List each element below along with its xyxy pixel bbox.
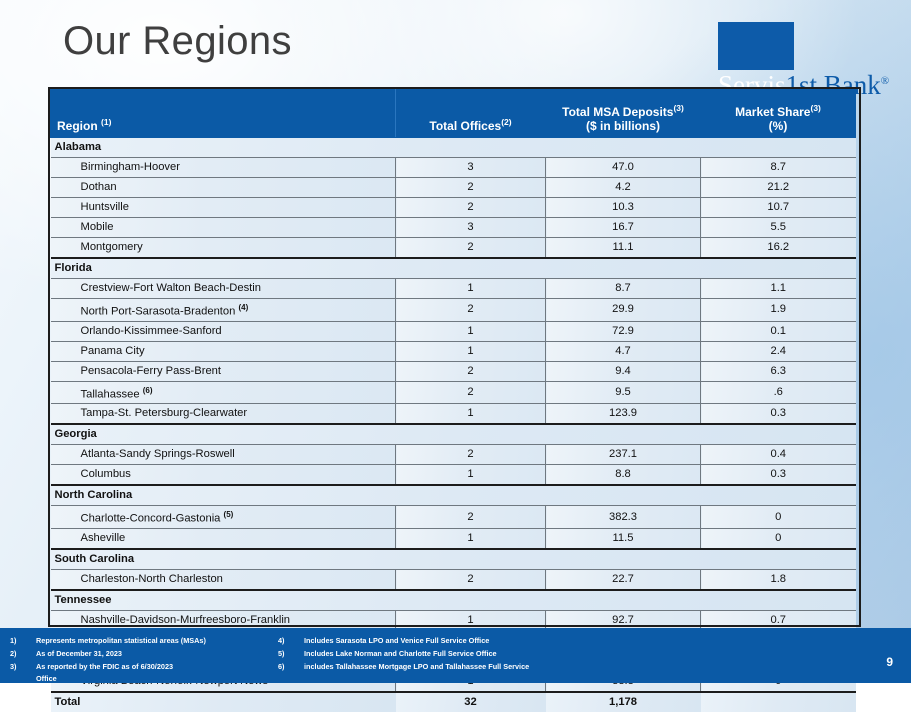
footnote-number: 6) — [278, 661, 304, 674]
footnotes-right-column: 4)Includes Sarasota LPO and Venice Full … — [278, 635, 608, 673]
table-row: Pensacola-Ferry Pass-Brent29.46.3 — [51, 361, 856, 381]
table-row: Huntsville210.310.7 — [51, 198, 856, 218]
msa-total-offices: 2 — [396, 445, 546, 465]
state-header-row: Alabama — [51, 138, 856, 158]
state-header-row: South Carolina — [51, 549, 856, 570]
msa-market-share: 21.2 — [701, 178, 856, 198]
footnotes-bar: 1)Represents metropolitan statistical ar… — [0, 628, 911, 683]
msa-name: Asheville — [51, 529, 396, 550]
footnote-item: 5)Includes Lake Norman and Charlotte Ful… — [278, 648, 608, 661]
regions-table-wrapper: Region (1) Total Offices(2) Total MSA De… — [50, 89, 855, 712]
header-row: Region (1) Total Offices(2) Total MSA De… — [51, 90, 856, 138]
registered-mark-icon: ® — [881, 75, 889, 87]
msa-total-deposits: 11.1 — [546, 238, 701, 259]
table-row: Orlando-Kissimmee-Sanford172.90.1 — [51, 321, 856, 341]
msa-total-deposits: 382.3 — [546, 506, 701, 529]
msa-market-share: 16.2 — [701, 238, 856, 259]
msa-name: Charleston-North Charleston — [51, 570, 396, 591]
total-label: Total — [51, 692, 396, 712]
msa-market-share: 0 — [701, 506, 856, 529]
state-header-row: North Carolina — [51, 485, 856, 506]
column-header-msa-deposits: Total MSA Deposits(3)($ in billions) — [546, 90, 701, 138]
msa-name: North Port-Sarasota-Bradenton (4) — [51, 299, 396, 322]
total-offices: 32 — [396, 692, 546, 712]
msa-total-deposits: 47.0 — [546, 158, 701, 178]
state-header-row: Georgia — [51, 424, 856, 445]
total-row: Total321,178 — [51, 692, 856, 712]
msa-name: Crestview-Fort Walton Beach-Destin — [51, 279, 396, 299]
msa-market-share: 0.3 — [701, 404, 856, 425]
state-header-row: Tennessee — [51, 590, 856, 611]
msa-total-deposits: 9.4 — [546, 361, 701, 381]
msa-market-share: 6.3 — [701, 361, 856, 381]
total-market-share — [701, 692, 856, 712]
state-name: Tennessee — [51, 590, 856, 611]
msa-market-share: 1.1 — [701, 279, 856, 299]
table-row: Montgomery211.116.2 — [51, 238, 856, 259]
footnote-text: includes Tallahassee Mortgage LPO and Ta… — [304, 661, 608, 674]
msa-market-share: 1.8 — [701, 570, 856, 591]
msa-total-offices: 2 — [396, 570, 546, 591]
regions-table: Region (1) Total Offices(2) Total MSA De… — [50, 89, 856, 712]
msa-total-deposits: 8.7 — [546, 279, 701, 299]
table-row: Crestview-Fort Walton Beach-Destin18.71.… — [51, 279, 856, 299]
table-row: Tampa-St. Petersburg-Clearwater1123.90.3 — [51, 404, 856, 425]
msa-name: Tampa-St. Petersburg-Clearwater — [51, 404, 396, 425]
footnote-number: 3) — [10, 661, 36, 674]
footnote-number: 4) — [278, 635, 304, 648]
msa-name: Mobile — [51, 218, 396, 238]
state-name: Georgia — [51, 424, 856, 445]
msa-name: Huntsville — [51, 198, 396, 218]
msa-market-share: 2.4 — [701, 341, 856, 361]
msa-name: Charlotte-Concord-Gastonia (5) — [51, 506, 396, 529]
msa-market-share: 8.7 — [701, 158, 856, 178]
table-row: North Port-Sarasota-Bradenton (4)229.91.… — [51, 299, 856, 322]
footnotes-left-column: 1)Represents metropolitan statistical ar… — [10, 635, 270, 686]
footnote-ref: (6) — [143, 386, 153, 395]
msa-name: Panama City — [51, 341, 396, 361]
state-name: Florida — [51, 258, 856, 279]
msa-market-share: .6 — [701, 381, 856, 404]
msa-market-share: 0.3 — [701, 465, 856, 486]
table-row: Birmingham-Hoover347.08.7 — [51, 158, 856, 178]
msa-total-deposits: 16.7 — [546, 218, 701, 238]
msa-total-offices: 1 — [396, 279, 546, 299]
footnote-number: 1) — [10, 635, 36, 648]
page-title: Our Regions — [63, 18, 292, 64]
msa-name: Columbus — [51, 465, 396, 486]
table-row: Charlotte-Concord-Gastonia (5)2382.30 — [51, 506, 856, 529]
msa-total-deposits: 11.5 — [546, 529, 701, 550]
msa-total-deposits: 4.7 — [546, 341, 701, 361]
msa-total-offices: 3 — [396, 218, 546, 238]
footnote-item: 1)Represents metropolitan statistical ar… — [10, 635, 270, 648]
msa-total-deposits: 237.1 — [546, 445, 701, 465]
footnote-item: 6)includes Tallahassee Mortgage LPO and … — [278, 661, 608, 674]
state-name: Alabama — [51, 138, 856, 158]
msa-total-offices: 1 — [396, 465, 546, 486]
msa-total-deposits: 72.9 — [546, 321, 701, 341]
msa-total-deposits: 22.7 — [546, 570, 701, 591]
msa-total-deposits: 8.8 — [546, 465, 701, 486]
msa-market-share: 0 — [701, 529, 856, 550]
msa-total-offices: 2 — [396, 238, 546, 259]
msa-name: Atlanta-Sandy Springs-Roswell — [51, 445, 396, 465]
msa-market-share: 0.4 — [701, 445, 856, 465]
page-number: 9 — [886, 655, 893, 669]
msa-total-offices: 2 — [396, 299, 546, 322]
msa-name: Montgomery — [51, 238, 396, 259]
table-row: Columbus18.80.3 — [51, 465, 856, 486]
msa-total-deposits: 10.3 — [546, 198, 701, 218]
msa-name: Pensacola-Ferry Pass-Brent — [51, 361, 396, 381]
msa-name: Birmingham-Hoover — [51, 158, 396, 178]
table-row: Atlanta-Sandy Springs-Roswell2237.10.4 — [51, 445, 856, 465]
table-row: Tallahassee (6)29.5.6 — [51, 381, 856, 404]
msa-total-offices: 1 — [396, 529, 546, 550]
footnote-number: 5) — [278, 648, 304, 661]
msa-total-deposits: 4.2 — [546, 178, 701, 198]
msa-total-offices: 2 — [396, 361, 546, 381]
msa-market-share: 10.7 — [701, 198, 856, 218]
servisfirst-bank-logo: Servis1st Bank® — [718, 22, 893, 88]
footnote-text: Includes Lake Norman and Charlotte Full … — [304, 648, 608, 661]
footnote-text: Represents metropolitan statistical area… — [36, 635, 270, 648]
msa-name: Orlando-Kissimmee-Sanford — [51, 321, 396, 341]
msa-total-offices: 2 — [396, 506, 546, 529]
table-row: Asheville111.50 — [51, 529, 856, 550]
table-body: AlabamaBirmingham-Hoover347.08.7Dothan24… — [51, 138, 856, 712]
table-row: Mobile316.75.5 — [51, 218, 856, 238]
footnote-ref-1: (1) — [101, 117, 111, 127]
msa-total-deposits: 9.5 — [546, 381, 701, 404]
table-row: Panama City14.72.4 — [51, 341, 856, 361]
state-name: South Carolina — [51, 549, 856, 570]
msa-name: Tallahassee (6) — [51, 381, 396, 404]
msa-market-share: 1.9 — [701, 299, 856, 322]
footnote-number: 2) — [10, 648, 36, 661]
table-row: Dothan24.221.2 — [51, 178, 856, 198]
table-row: Charleston-North Charleston222.71.8 — [51, 570, 856, 591]
logo-square — [718, 22, 794, 70]
total-deposits: 1,178 — [546, 692, 701, 712]
msa-market-share: 0.1 — [701, 321, 856, 341]
column-header-market-share: Market Share(3)(%) — [701, 90, 856, 138]
footnote-ref: (4) — [238, 303, 248, 312]
footnote-ref-3b: (3) — [810, 103, 820, 113]
msa-name: Dothan — [51, 178, 396, 198]
msa-total-offices: 1 — [396, 404, 546, 425]
footnote-item: 4)Includes Sarasota LPO and Venice Full … — [278, 635, 608, 648]
msa-total-deposits: 29.9 — [546, 299, 701, 322]
footnote-ref-3a: (3) — [673, 103, 683, 113]
footnote-item: 3)As reported by the FDIC as of 6/30/202… — [10, 661, 270, 674]
msa-market-share: 5.5 — [701, 218, 856, 238]
column-header-total-offices: Total Offices(2) — [396, 90, 546, 138]
state-header-row: Florida — [51, 258, 856, 279]
footnote-ref-2: (2) — [501, 117, 511, 127]
table-header: Region (1) Total Offices(2) Total MSA De… — [51, 90, 856, 138]
msa-total-offices: 2 — [396, 178, 546, 198]
footnote-text: As of December 31, 2023 — [36, 648, 270, 661]
msa-total-offices: 1 — [396, 321, 546, 341]
msa-total-offices: 2 — [396, 198, 546, 218]
column-header-region: Region (1) — [51, 90, 396, 138]
state-name: North Carolina — [51, 485, 856, 506]
msa-total-deposits: 123.9 — [546, 404, 701, 425]
footnote-continuation: Office — [10, 673, 270, 686]
msa-total-offices: 2 — [396, 381, 546, 404]
footnote-ref: (5) — [224, 510, 234, 519]
msa-total-offices: 3 — [396, 158, 546, 178]
slide-canvas: Our Regions Servis1st Bank® Region (1) T… — [0, 0, 911, 683]
footnote-item: 2)As of December 31, 2023 — [10, 648, 270, 661]
footnote-text: As reported by the FDIC as of 6/30/2023 — [36, 661, 270, 674]
msa-total-offices: 1 — [396, 341, 546, 361]
footnote-text: Includes Sarasota LPO and Venice Full Se… — [304, 635, 608, 648]
